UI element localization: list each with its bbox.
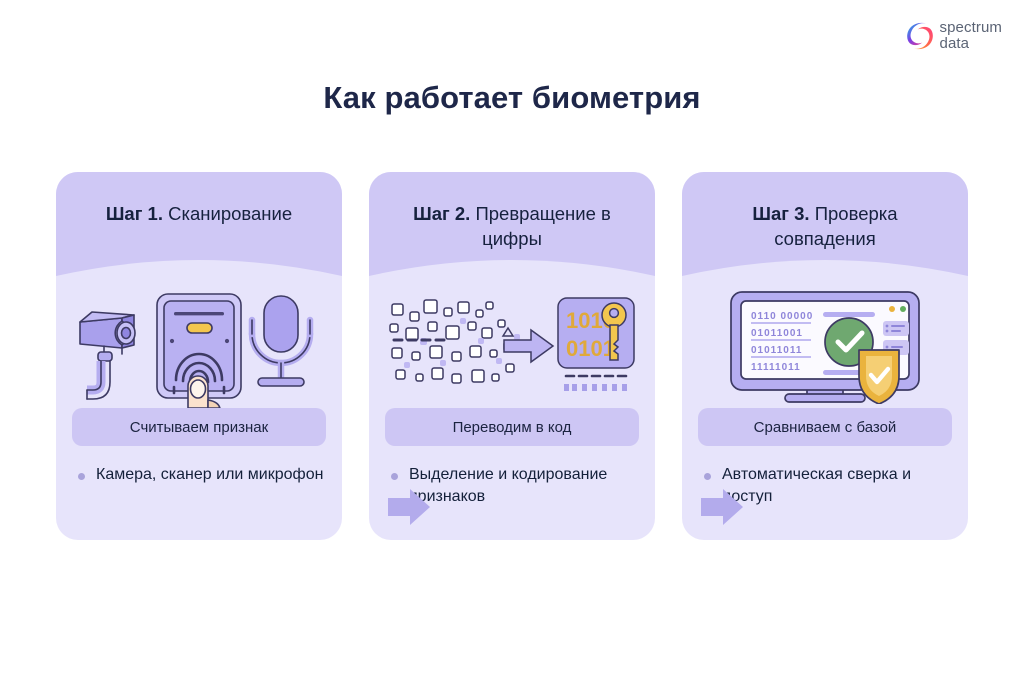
- arrow-step2-to-step3: [701, 487, 743, 527]
- infographic-slide: spectrum data Как работает биометрия Шаг…: [0, 0, 1024, 683]
- code-line-1: 0110 00000: [751, 311, 813, 322]
- bullet-dot-icon: [391, 473, 398, 480]
- step-card-3-title: Шаг 3. Проверка совпадения: [682, 172, 968, 251]
- brand-name-line2: data: [940, 36, 1003, 51]
- steps-row: Шаг 1. Сканирование: [56, 172, 968, 540]
- brand-name-line1: spectrum: [940, 20, 1003, 35]
- code-line-3: 01011011: [751, 345, 802, 356]
- right-arrow-icon: [388, 487, 430, 527]
- code-line-4: 11111011: [751, 362, 801, 373]
- brand-name: spectrum data: [940, 20, 1003, 51]
- right-arrow-icon: [701, 487, 743, 527]
- microphone-icon: [252, 296, 310, 386]
- fingerprint-scanner-icon: [157, 294, 241, 408]
- step-card-1-pill: Считываем признак: [72, 408, 326, 446]
- camera-fingerprint-microphone-illustration: [56, 288, 342, 408]
- arrow-step1-to-step2: [388, 487, 430, 527]
- step-card-3-pill: Сравниваем с базой: [698, 408, 952, 446]
- page-title: Как работает биометрия: [0, 80, 1024, 116]
- step-card-2-pill-label: Переводим в код: [453, 419, 572, 436]
- bullet-dot-icon: [78, 473, 85, 480]
- step-card-2-step-label: Шаг 2.: [413, 203, 470, 224]
- step-card-1-title: Шаг 1. Сканирование: [56, 172, 342, 227]
- step-card-2-pill: Переводим в код: [385, 408, 639, 446]
- step-card-1: Шаг 1. Сканирование: [56, 172, 342, 540]
- pixels-to-binary-key-illustration: 1010 0101: [369, 290, 655, 398]
- code-line-2: 01011001: [751, 328, 803, 339]
- step-card-3-step-label: Шаг 3.: [752, 203, 809, 224]
- bullet-dot-icon: [704, 473, 711, 480]
- step-card-1-step-label: Шаг 1.: [106, 203, 163, 224]
- step-card-1-bullet-text: Камера, сканер или микрофон: [96, 464, 323, 486]
- step-card-3-bullet-text: Автоматическая сверка и доступ: [722, 464, 954, 508]
- step-card-2: Шаг 2. Превращение в цифры: [369, 172, 655, 540]
- step-card-1-bullet: Камера, сканер или микрофон: [78, 464, 328, 486]
- step-card-3: Шаг 3. Проверка совпадения 0110 00000: [682, 172, 968, 540]
- step-card-3-pill-label: Сравниваем с базой: [754, 419, 897, 436]
- verification-screen-icon: 0110 00000 01011001 01011011 11111011: [707, 290, 943, 404]
- binary-line-bottom: 0101: [566, 336, 615, 361]
- scan-devices-icon: [70, 288, 328, 408]
- monitor-check-shield-illustration: 0110 00000 01011001 01011011 11111011: [682, 288, 968, 404]
- step-card-2-title: Шаг 2. Превращение в цифры: [369, 172, 655, 251]
- step-card-1-title-text: Сканирование: [168, 203, 292, 224]
- step-card-1-pill-label: Считываем признак: [130, 419, 268, 436]
- spectrum-data-logo-icon: [907, 21, 933, 51]
- brand-logo: spectrum data: [907, 20, 1003, 51]
- step-card-2-bullet-text: Выделение и кодирование признаков: [409, 464, 641, 508]
- step-card-2-title-text: Превращение в цифры: [475, 203, 610, 249]
- encode-to-binary-icon: 1010 0101: [386, 294, 638, 398]
- security-camera-icon: [80, 312, 135, 399]
